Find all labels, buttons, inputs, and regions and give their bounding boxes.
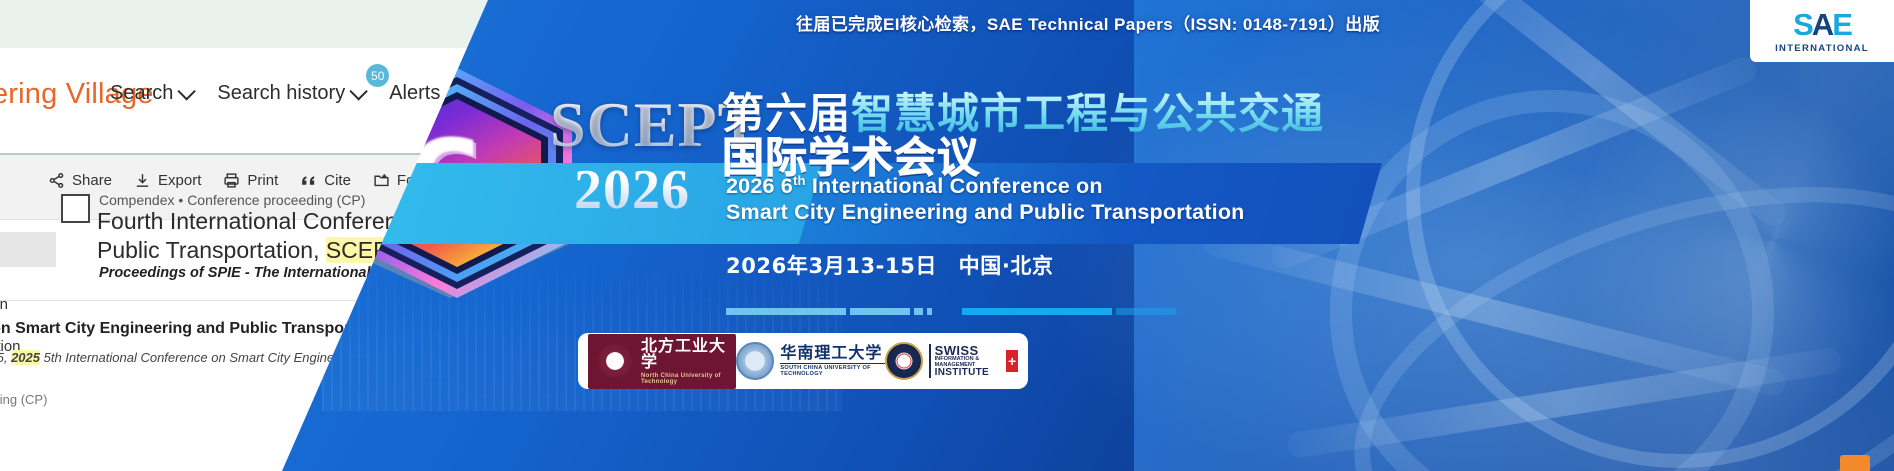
sponsor-logo-scut[interactable]: 华南理工大学 SOUTH CHINA UNIVERSITY OF TECHNOL… xyxy=(736,342,884,380)
print-button[interactable]: Print xyxy=(223,172,278,189)
tick-segment xyxy=(962,308,1112,315)
sponsor-logo-strip: 北方工业大学 North China University of Technol… xyxy=(578,333,1028,389)
tick-segment xyxy=(927,308,932,315)
english-title-line2: Smart City Engineering and Public Transp… xyxy=(726,200,1245,225)
folder-add-icon xyxy=(373,172,390,189)
results-toolbar-actions: Share Export Print Cite Folders xyxy=(48,172,447,189)
export-label: Export xyxy=(158,172,201,189)
tick-segment xyxy=(1116,308,1176,315)
smi-text: SWISS INFORMATION & MANAGEMENT INSTITUTE xyxy=(929,344,999,378)
tick-segment xyxy=(726,308,846,315)
result2-doctype: roceeding (CP) xyxy=(0,392,47,407)
scut-text: 华南理工大学 SOUTH CHINA UNIVERSITY OF TECHNOL… xyxy=(780,345,884,378)
sae-subtitle: INTERNATIONAL xyxy=(1775,43,1869,54)
result-meta: Compendex • Conference proceeding (CP) xyxy=(99,192,365,208)
download-icon xyxy=(134,172,151,189)
share-label: Share xyxy=(72,172,112,189)
tick-segment xyxy=(914,308,923,315)
print-label: Print xyxy=(247,172,278,189)
nav-item-search-history[interactable]: Search history 50 xyxy=(217,82,363,105)
main-nav: Search Search history 50 Alerts xyxy=(110,82,440,105)
ncut-seal-icon xyxy=(596,342,634,380)
search-history-badge: 50 xyxy=(366,64,389,87)
result2-source-a: tober 17, 2025, xyxy=(0,350,11,365)
sae-wordmark: SAE xyxy=(1793,9,1851,40)
swiss-flag-icon: + xyxy=(1006,350,1018,372)
facet-highlight-block xyxy=(0,232,56,267)
sae-international-logo[interactable]: SAE INTERNATIONAL xyxy=(1750,0,1894,62)
smi-seal-icon xyxy=(885,342,923,380)
nav-item-label: Search history xyxy=(217,82,345,105)
result-title-part2: Public Transportation, xyxy=(97,237,326,263)
tick-segment xyxy=(850,308,910,315)
nav-item-alerts[interactable]: Alerts xyxy=(389,82,440,105)
nav-item-search[interactable]: Search xyxy=(110,82,191,105)
scut-name-cn: 华南理工大学 xyxy=(780,345,884,362)
decorative-tick-line xyxy=(726,308,1426,315)
sae-letter-a: A xyxy=(1812,7,1832,42)
date-location-text: 2026年3月13-15日 中国·北京 xyxy=(726,250,1054,280)
result2-source-highlight: 2025 xyxy=(11,350,40,365)
chevron-down-icon xyxy=(350,82,368,100)
result-doctype: Conference proceeding (CP) xyxy=(187,192,365,208)
meta-separator: • xyxy=(178,192,183,208)
ncut-text: 北方工业大学 North China University of Technol… xyxy=(641,338,728,385)
smi-line1: SWISS xyxy=(935,344,999,357)
bottom-right-chip[interactable] xyxy=(1840,455,1870,471)
sae-letter-s: S xyxy=(1793,7,1812,42)
english-title-line1: 2026 6th International Conference on xyxy=(726,173,1103,199)
share-icon xyxy=(48,172,65,189)
chevron-down-icon xyxy=(178,82,196,100)
ncut-name-en: North China University of Technology xyxy=(641,373,728,385)
english-title-ordinal: th xyxy=(793,173,806,188)
smi-line3: INSTITUTE xyxy=(935,368,999,378)
cite-label: Cite xyxy=(324,172,351,189)
conference-banner[interactable]: 往届已完成EI核心检索，SAE Technical Papers（ISSN: 0… xyxy=(282,0,1894,471)
conference-year: 2026 xyxy=(574,158,690,222)
english-title-year: 2026 6 xyxy=(726,174,793,198)
sae-letter-e: E xyxy=(1832,7,1851,42)
result-database: Compendex xyxy=(99,192,175,208)
share-button[interactable]: Share xyxy=(48,172,112,189)
ncut-name-cn: 北方工业大学 xyxy=(641,338,728,370)
quote-icon xyxy=(300,172,317,189)
printer-icon xyxy=(223,172,240,189)
facet-label-1[interactable]: ion xyxy=(0,296,8,313)
nav-item-label: Alerts xyxy=(389,82,440,105)
announcement-text: 往届已完成EI核心检索，SAE Technical Papers（ISSN: 0… xyxy=(282,10,1894,35)
scut-name-en: SOUTH CHINA UNIVERSITY OF TECHNOLOGY xyxy=(780,363,884,377)
nav-item-label: Search xyxy=(110,82,173,105)
ncut-logo-box: 北方工业大学 North China University of Technol… xyxy=(588,334,736,389)
sponsor-logo-smi[interactable]: SWISS INFORMATION & MANAGEMENT INSTITUTE… xyxy=(885,342,1018,380)
english-title-rest: International Conference on xyxy=(806,174,1103,198)
sponsor-logo-ncut[interactable]: 北方工业大学 North China University of Technol… xyxy=(588,334,736,389)
cite-button[interactable]: Cite xyxy=(300,172,351,189)
scut-seal-icon xyxy=(736,342,774,380)
result-checkbox[interactable] xyxy=(61,194,90,223)
export-button[interactable]: Export xyxy=(134,172,201,189)
